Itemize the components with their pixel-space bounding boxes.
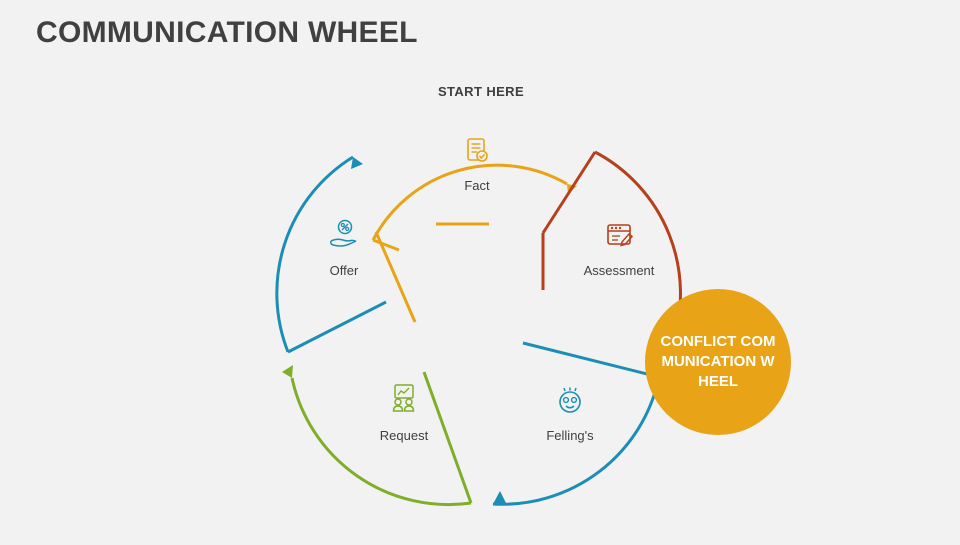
communication-wheel-diagram: Fact Assessment (240, 60, 720, 540)
page-title: COMMUNICATION WHEEL (36, 16, 418, 50)
document-check-icon (459, 134, 495, 170)
slide-canvas: COMMUNICATION WHEEL START HERE (0, 0, 960, 540)
segment-label-offer: Offer (330, 263, 359, 278)
segment-label-assessment: Assessment (584, 263, 655, 278)
wheel-hub[interactable]: CONFLICT COMMUNICATION WHEEL (645, 289, 791, 435)
segment-label-fact: Fact (464, 178, 489, 193)
hand-percent-icon (326, 217, 362, 253)
segment-arc-offer[interactable] (277, 157, 386, 352)
segment-label-request: Request (380, 428, 428, 443)
people-presentation-icon (386, 380, 422, 416)
happy-face-icon (552, 382, 588, 418)
wheel-hub-text: CONFLICT COMMUNICATION WHEEL (659, 332, 777, 392)
segment-label-fellings: Felling's (546, 428, 593, 443)
segment-arc-fellings[interactable] (493, 343, 659, 504)
clipboard-pencil-icon (601, 218, 637, 254)
wheel-arcs (240, 60, 720, 540)
segment-arc-request[interactable] (282, 365, 471, 505)
